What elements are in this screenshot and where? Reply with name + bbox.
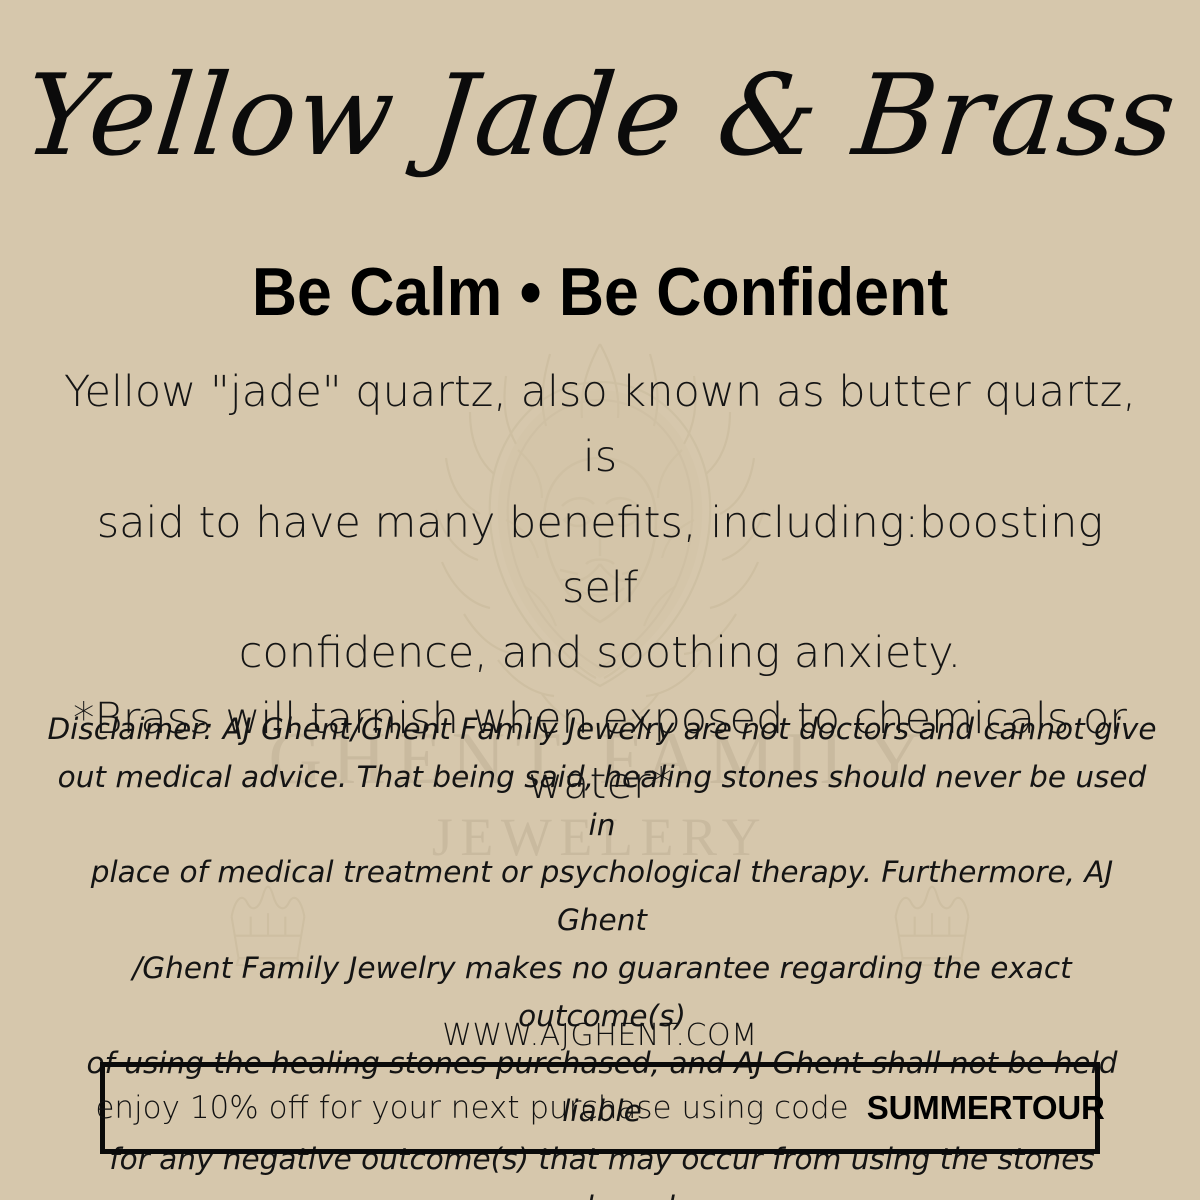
promo-code-box: enjoy 10% off for your next purchase usi… <box>100 1062 1100 1154</box>
page-title: Yellow Jade & Brass <box>0 58 1200 176</box>
disclaimer-line: out medical advice. That being said, hea… <box>46 754 1158 850</box>
flyer-content: Yellow Jade & Brass Be Calm • Be Confide… <box>0 0 1200 1200</box>
body-line: Yellow "jade" quartz, also known as butt… <box>60 360 1140 491</box>
promo-message: enjoy 10% off for your next purchase usi… <box>95 1090 848 1126</box>
flyer-card: GHENT FAMILY JEWELERY <box>0 0 1200 1200</box>
promo-code[interactable]: SUMMERTOUR <box>867 1089 1105 1127</box>
body-line: confidence, and soothing anxiety. <box>60 621 1140 686</box>
disclaimer-line: Disclaimer: AJ Ghent/Ghent Family Jewelr… <box>46 706 1158 754</box>
subtitle-tagline: Be Calm • Be Confident <box>48 258 1152 326</box>
disclaimer-line: place of medical treatment or psychologi… <box>46 849 1158 945</box>
website-url[interactable]: WWW.AJGHENT.COM <box>0 1018 1200 1053</box>
body-line: said to have many benefits, including:bo… <box>60 491 1140 622</box>
